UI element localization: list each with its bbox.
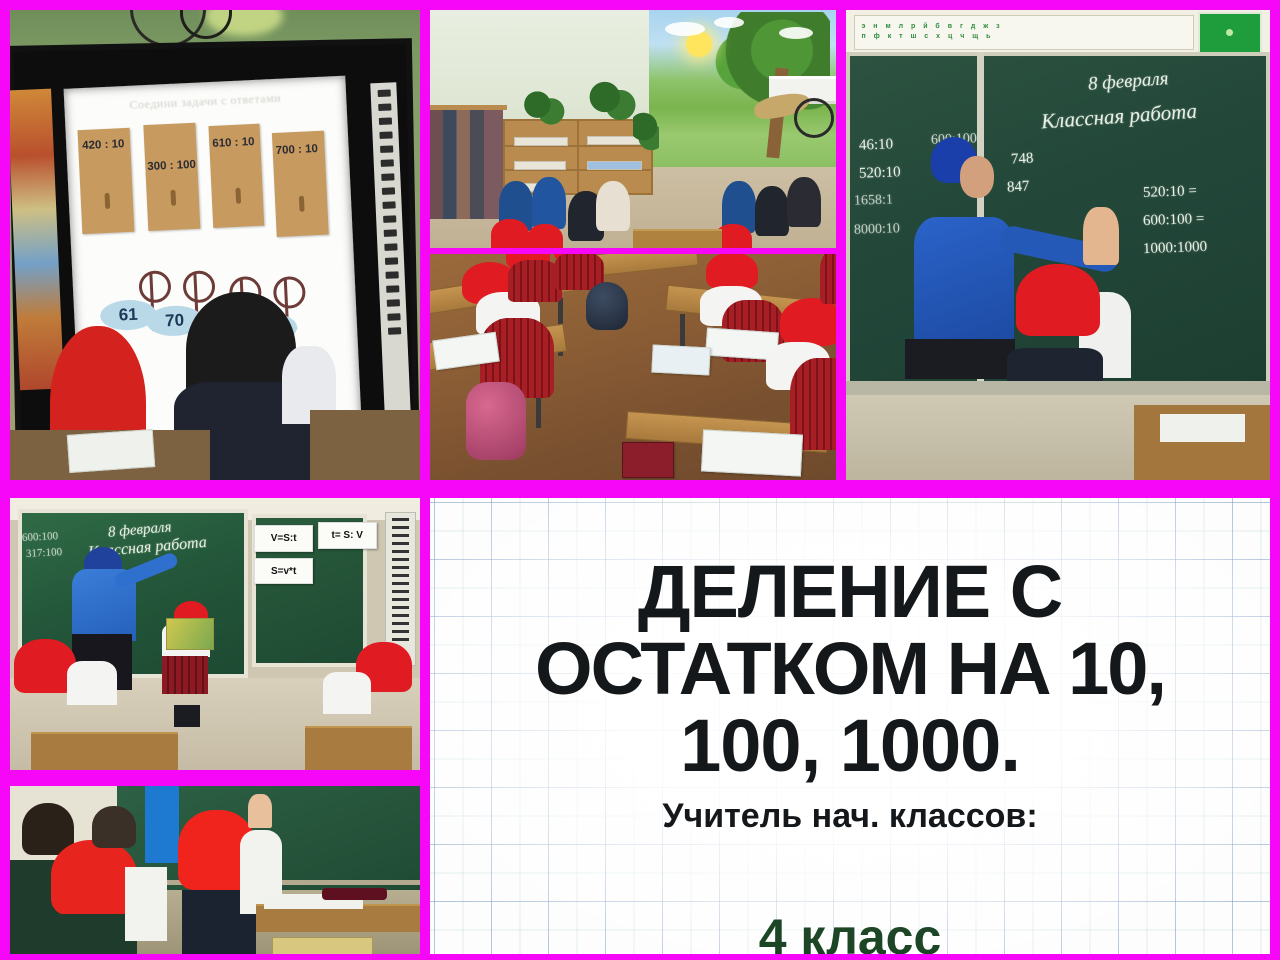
- red-headscarf: [1016, 264, 1100, 336]
- expression-4: 700 : 10: [275, 143, 318, 157]
- photo-classroom-overview: [430, 10, 836, 248]
- photo-collage: Соедини задачи с ответами 420 : 10 300 :…: [0, 0, 1280, 960]
- pupil: [527, 224, 563, 248]
- chalk-right-3: 1000:1000: [1143, 239, 1208, 258]
- expression-1: 420 : 10: [82, 138, 125, 152]
- pupil-blouse: [125, 867, 167, 941]
- textbook: [272, 937, 372, 954]
- chalk-left-1: 600:100: [22, 530, 59, 544]
- pupil: [787, 177, 821, 227]
- textbook: [166, 618, 214, 650]
- teacher-sleeve: [145, 786, 179, 863]
- dot-icon: [1226, 29, 1233, 36]
- books: [587, 161, 642, 170]
- grade-label: 4 класс: [430, 908, 1270, 954]
- lesson-title-slide: ДЕЛЕНИЕ С ОСТАТКОМ НА 10, 100, 1000. Учи…: [430, 498, 1270, 954]
- desk: [31, 732, 179, 770]
- school-bag: [586, 282, 628, 330]
- coat-shelf: [430, 105, 507, 110]
- title-line-1: ДЕЛЕНИЕ С: [430, 554, 1270, 631]
- chalk-right-1: 520:10 =: [1143, 183, 1197, 202]
- pencil-case: [622, 442, 674, 478]
- desk: [305, 726, 412, 770]
- chalk-mid-2: 748: [1011, 150, 1034, 168]
- notebook: [1160, 414, 1245, 442]
- door-handle-icon: [235, 188, 241, 204]
- expression-2: 300 : 100: [147, 159, 196, 173]
- raised-hand: [248, 794, 272, 828]
- chalk-mid-3: 847: [1007, 179, 1030, 197]
- slide-title: Соедини задачи с ответами: [64, 88, 346, 116]
- cloud-icon: [665, 22, 705, 36]
- title-line-3: 100, 1000.: [430, 708, 1270, 785]
- door-card-2: [143, 123, 200, 231]
- desk: [633, 229, 722, 248]
- photo-teacher-writing: 600:100 317:100 8 февраля Классная работ…: [10, 498, 420, 770]
- title-line-2: ОСТАТКОМ НА 10,: [430, 631, 1270, 708]
- bicycle-icon: [794, 98, 834, 138]
- expression-3: 610 : 10: [212, 136, 255, 150]
- teacher-skirt: [905, 339, 1015, 379]
- books: [514, 161, 566, 170]
- photo-students-writing: [430, 254, 836, 480]
- teacher-face: [960, 156, 994, 198]
- pupil-uniform: [162, 656, 208, 694]
- pupil: [755, 186, 789, 236]
- open-notebook: [67, 429, 155, 473]
- teacher-label: Учитель нач. классов:: [662, 797, 1037, 836]
- chalk-left-4: 8000:10: [854, 221, 900, 239]
- alphabet-row-1: э н м л р й б в г д ж з: [861, 22, 1192, 33]
- plant-icon: [519, 91, 565, 125]
- pupil-blouse: [67, 661, 117, 705]
- cloud-icon: [779, 27, 813, 39]
- pencil-case: [322, 888, 388, 900]
- photo-whiteboard-lesson: Соедини задачи с ответами 420 : 10 300 :…: [10, 10, 420, 480]
- school-bag: [466, 382, 526, 460]
- chalk-right-2: 600:100 =: [1143, 211, 1205, 230]
- plaid-uniform: [820, 254, 836, 304]
- alphabet-banner: э н м л р й б в г д ж з п ф к т ш с х ц …: [854, 15, 1193, 50]
- chalk-left-3: 1658:1: [854, 193, 893, 210]
- formula-card-speed: V=S:t: [254, 525, 313, 551]
- wall-sign: [1198, 12, 1261, 54]
- pupil-head: [92, 806, 136, 848]
- plant-icon: [584, 81, 636, 121]
- open-notebook: [701, 429, 803, 476]
- door-handle-icon: [170, 189, 176, 205]
- chalk-left-1: 46:10: [858, 136, 893, 154]
- coat-rack: [430, 110, 503, 219]
- pupil-legs: [174, 705, 200, 727]
- red-headscarf: [706, 254, 758, 290]
- chalk-left-2: 317:100: [26, 546, 63, 560]
- raised-hand: [1083, 207, 1119, 265]
- teacher-jacket: [914, 217, 1014, 347]
- door-handle-icon: [105, 193, 111, 209]
- chalk-tray: [846, 381, 1270, 395]
- textbook: [651, 345, 710, 376]
- red-headscarf: [780, 298, 836, 346]
- formula-card-time: t= S: V: [318, 522, 377, 548]
- door-handle-icon: [299, 196, 305, 212]
- books: [514, 137, 569, 146]
- photo-raised-hand: [10, 786, 420, 954]
- chalk-left-2: 520:10: [858, 164, 900, 182]
- alphabet-row-2: п ф к т ш с х ц ч щ ь: [861, 32, 1192, 43]
- pupil: [596, 181, 630, 231]
- photo-teacher-blackboard: э н м л р й б в г д ж з п ф к т ш с х ц …: [846, 10, 1270, 480]
- formula-card-distance: S=v*t: [254, 558, 313, 584]
- desk: [310, 410, 420, 480]
- pupil: [491, 219, 529, 248]
- pupil: [532, 177, 566, 229]
- pupil-blouse: [323, 672, 371, 714]
- plant-icon: [633, 105, 659, 159]
